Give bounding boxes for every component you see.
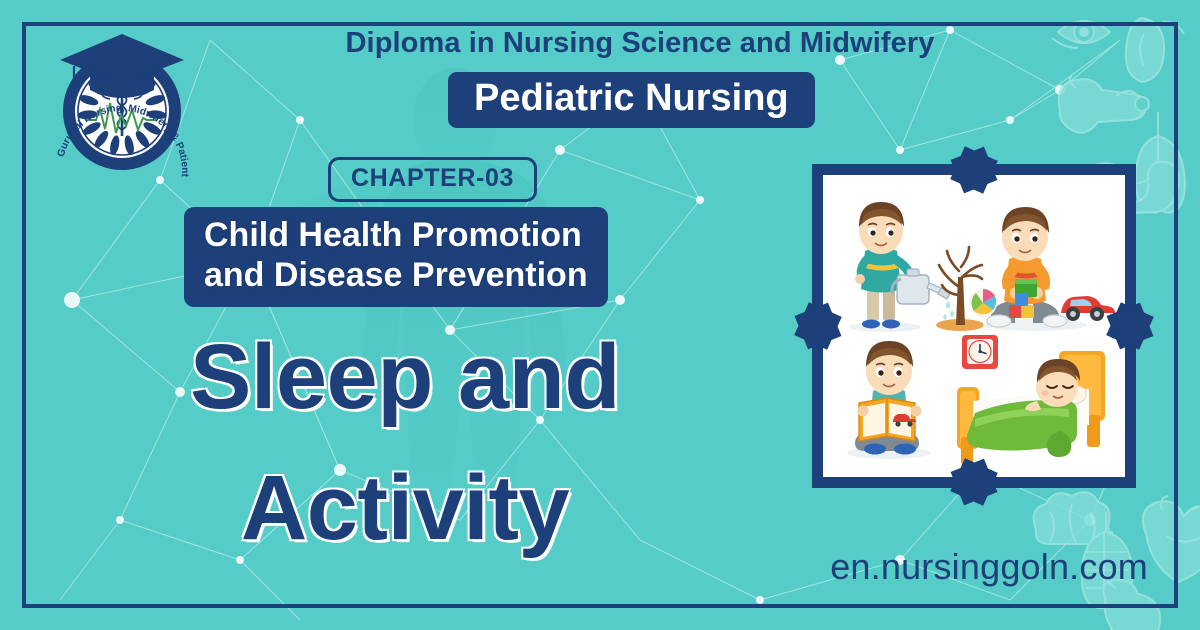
page-title: Sleep and Activity <box>60 312 750 573</box>
course-title-badge: Pediatric Nursing <box>448 72 815 128</box>
gurukul-nursing-logo: Gurukul Nursing, Midwifery & Patient Car… <box>52 28 192 178</box>
diploma-line: Diploma in Nursing Science and Midwifery <box>260 28 1020 60</box>
beach-ball-icon <box>969 289 997 317</box>
eye-icon <box>1052 21 1110 48</box>
illustration-panel <box>812 164 1136 488</box>
illustration-artwork <box>823 175 1125 477</box>
wall-clock-icon <box>962 335 998 369</box>
chapter-subtitle: Child Health Promotion and Disease Preve… <box>184 207 608 307</box>
chapter-subtitle-line-1: Child Health Promotion <box>204 215 588 255</box>
cross-decoration-bottom <box>946 454 1002 510</box>
cross-decoration-right <box>1102 298 1158 354</box>
chapter-badge: CHAPTER-03 <box>328 157 537 202</box>
poster-canvas: Gurukul Nursing, Midwifery & Patient Car… <box>0 0 1200 630</box>
website-url[interactable]: en.nursinggoln.com <box>830 546 1148 588</box>
kidney-icon <box>1126 18 1184 82</box>
heart-icon <box>1143 496 1200 582</box>
chapter-subtitle-line-2: and Disease Prevention <box>204 255 588 295</box>
cross-decoration-top <box>946 142 1002 198</box>
page-title-line-2: Activity <box>60 443 750 574</box>
page-title-line-1: Sleep and <box>60 312 750 443</box>
ear-anatomy-icon <box>1059 76 1149 133</box>
open-book-icon <box>859 398 916 441</box>
cross-decoration-left <box>790 298 846 354</box>
